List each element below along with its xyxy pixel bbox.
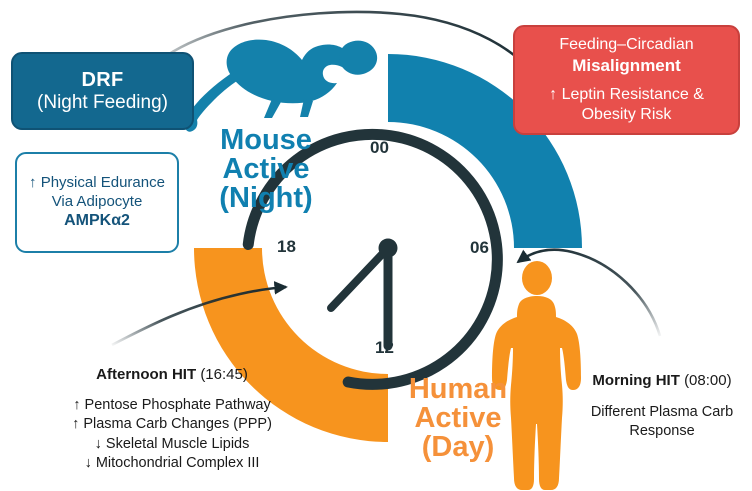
drf-subtitle: (Night Feeding) — [37, 92, 168, 115]
clock-center-pin — [379, 239, 398, 258]
misalignment-line-2: Misalignment — [572, 55, 681, 76]
clock-label-00: 00 — [370, 138, 389, 158]
drf-title: DRF — [81, 68, 123, 92]
afternoon-hit-line: ↓ Mitochondrial Complex III — [22, 454, 322, 473]
mouse-icon — [185, 40, 377, 132]
morning-hit-line: Different Plasma Carb — [576, 403, 748, 422]
clock-label-12: 12 — [375, 338, 394, 358]
misalignment-line-1: Feeding–Circadian — [559, 35, 693, 55]
afternoon-hit-block: Afternoon HIT (16:45) ↑ Pentose Phosphat… — [22, 366, 322, 473]
ampk-line-1: ↑ Physical Edurance — [29, 173, 165, 192]
morning-hit-heading: Morning HIT (08:00) — [576, 372, 748, 389]
afternoon-hit-heading-time: (16:45) — [200, 366, 248, 383]
ampk-line-2: Via Adipocyte — [52, 192, 143, 211]
morning-hit-heading-time: (08:00) — [684, 372, 732, 389]
human-active-label: Human Active (Day) — [393, 375, 523, 462]
morning-hit-line: Response — [576, 422, 748, 441]
mouse-label-line-1: Mouse — [196, 126, 336, 155]
clock-label-18: 18 — [277, 237, 296, 257]
afternoon-hit-line: ↓ Skeletal Muscle Lipids — [22, 435, 322, 454]
afternoon-hit-line: ↑ Plasma Carb Changes (PPP) — [22, 415, 322, 434]
morning-hit-heading-bold: Morning HIT — [592, 372, 679, 389]
ampk-box: ↑ Physical Edurance Via Adipocyte AMPKα2 — [15, 152, 179, 253]
clock-hour-hand — [331, 248, 388, 308]
afternoon-hit-heading: Afternoon HIT (16:45) — [22, 366, 322, 383]
mouse-active-label: Mouse Active (Night) — [196, 126, 336, 213]
afternoon-hit-line: ↑ Pentose Phosphate Pathway — [22, 396, 322, 415]
mouse-label-line-2: Active — [196, 155, 336, 184]
morning-hit-block: Morning HIT (08:00) Different Plasma Car… — [576, 372, 748, 441]
misalignment-line-3: ↑ Leptin Resistance & — [549, 85, 704, 105]
human-label-line-2: Active — [393, 404, 523, 433]
drf-box: DRF (Night Feeding) — [11, 52, 194, 130]
clock-label-06: 06 — [470, 238, 489, 258]
misalignment-line-4: Obesity Risk — [582, 105, 672, 125]
human-label-line-1: Human — [393, 375, 523, 404]
afternoon-hit-heading-bold: Afternoon HIT — [96, 366, 196, 383]
ampk-line-3: AMPKα2 — [64, 211, 130, 231]
figure-canvas: DRF (Night Feeding) ↑ Physical Edurance … — [0, 0, 752, 491]
misalignment-box: Feeding–Circadian Misalignment ↑ Leptin … — [513, 25, 740, 135]
mouse-label-line-3: (Night) — [196, 184, 336, 213]
human-label-line-3: (Day) — [393, 433, 523, 462]
